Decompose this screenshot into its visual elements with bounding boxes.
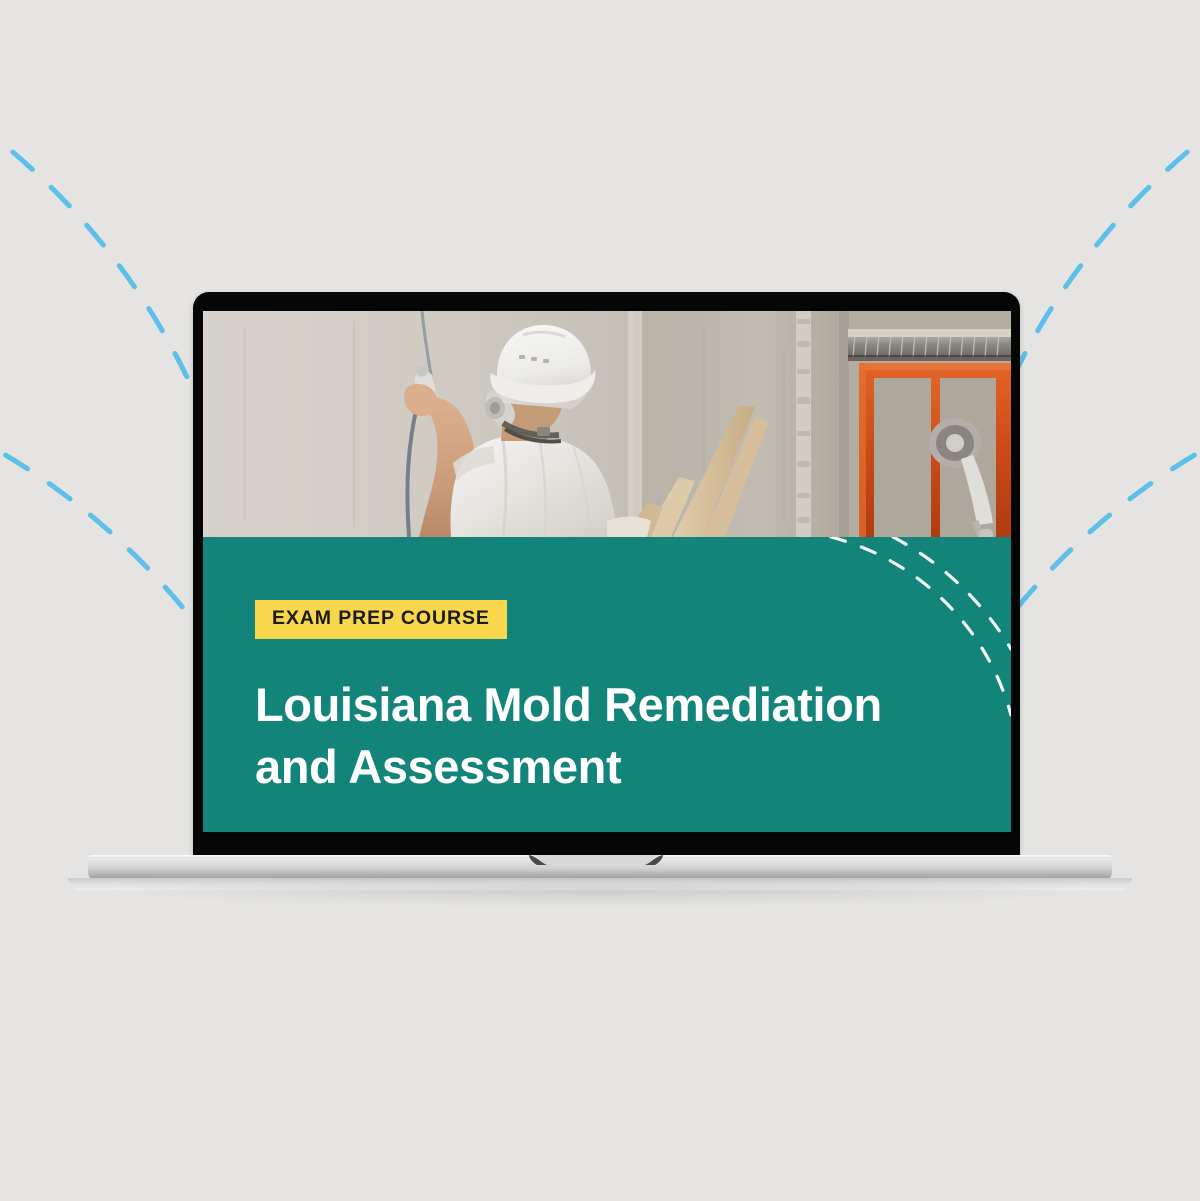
laptop-screen: EXAM PREP COURSE Louisiana Mold Remediat… [203,311,1011,832]
laptop-device: EXAM PREP COURSE Louisiana Mold Remediat… [0,0,1200,1201]
arc-white-outer [893,537,1011,649]
course-title: Louisiana Mold Remediation and Assessmen… [255,674,915,797]
product-mockup-scene: EXAM PREP COURSE Louisiana Mold Remediat… [0,0,1200,1201]
laptop-drop-shadow [96,886,1106,902]
course-title-panel: EXAM PREP COURSE Louisiana Mold Remediat… [203,537,1011,832]
hero-photo [203,311,1011,537]
exam-prep-course-badge: EXAM PREP COURSE [255,600,507,639]
laptop-base-notch [521,855,671,866]
